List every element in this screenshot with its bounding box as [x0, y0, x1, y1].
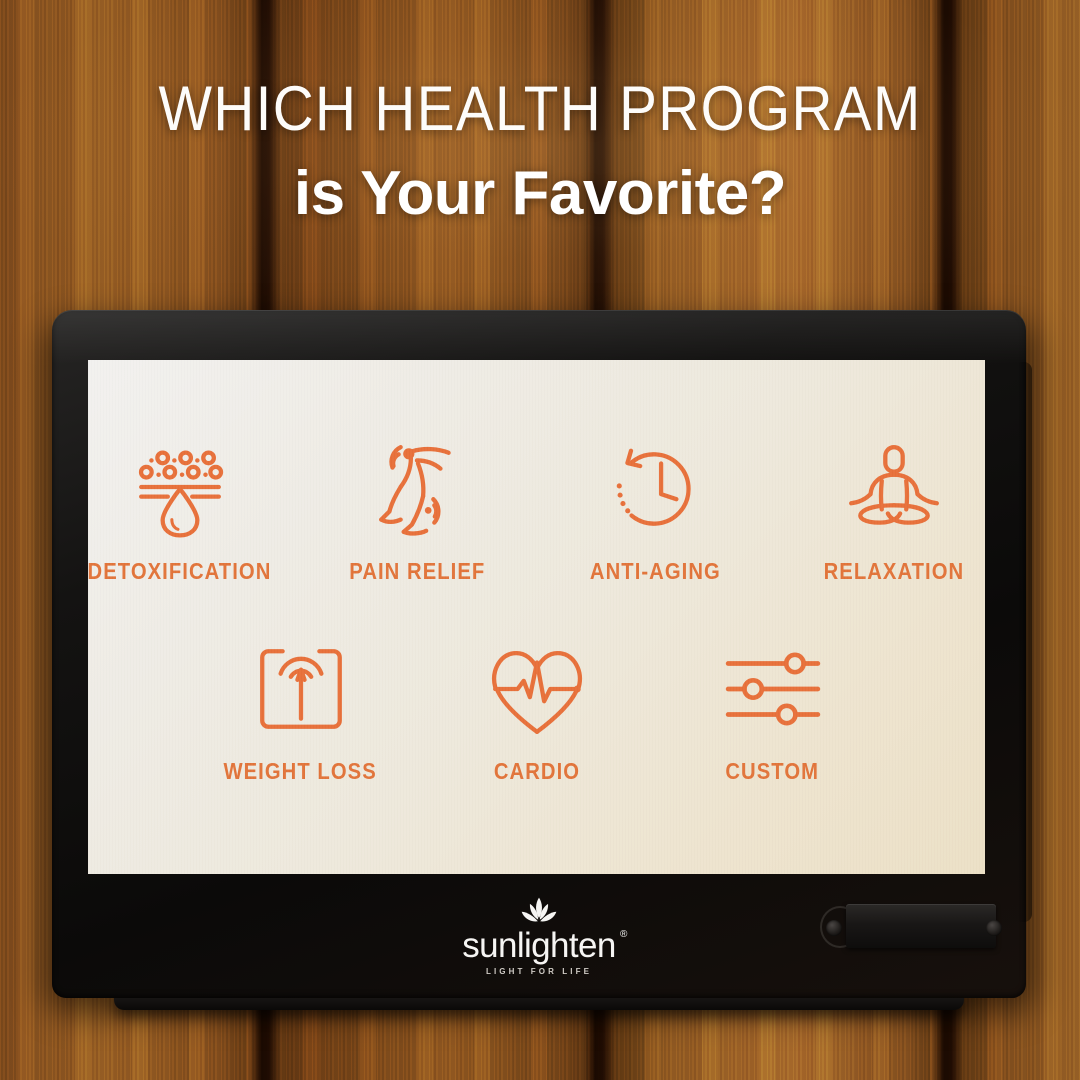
- wall-mount-bracket: [818, 898, 1008, 960]
- bezel-sheen: [52, 310, 1026, 364]
- logo-wordmark: sunlighten ®: [462, 928, 616, 963]
- lotus-flower-icon: [520, 896, 558, 926]
- logo-tagline: LIGHT FOR LIFE: [486, 967, 592, 976]
- logo-wordmark-text: sunlighten: [462, 926, 616, 965]
- clock-rewind-icon: [605, 438, 707, 540]
- mount-screw-right: [986, 920, 1002, 936]
- program-cardio[interactable]: CARDIO: [449, 638, 625, 785]
- registered-trademark-symbol: ®: [620, 930, 627, 940]
- program-label: RELAXATION: [823, 558, 964, 585]
- tablet-screen[interactable]: DETOXIFICATION: [88, 360, 985, 874]
- mount-plate: [846, 904, 996, 948]
- mount-screw-left: [826, 920, 842, 936]
- headline-line-2: is Your Favorite?: [0, 163, 1080, 225]
- heart-pulse-icon: [486, 638, 588, 740]
- wall-mounted-tablet: DETOXIFICATION: [52, 310, 1026, 998]
- program-anti-aging[interactable]: ANTI-AGING: [568, 438, 744, 585]
- meditation-lotus-pose-icon: [843, 438, 945, 540]
- program-label: PAIN RELIEF: [349, 558, 485, 585]
- program-relaxation[interactable]: RELAXATION: [806, 438, 982, 585]
- sliders-icon: [722, 638, 824, 740]
- program-row-2: WEIGHT LOSS: [88, 638, 985, 785]
- program-label: CARDIO: [493, 758, 579, 785]
- page-title: WHICH HEALTH PROGRAM is Your Favorite?: [0, 78, 1080, 225]
- detox-droplet-icon: [129, 438, 231, 540]
- program-label: DETOXIFICATION: [88, 558, 271, 585]
- pain-relief-person-icon: [367, 438, 469, 540]
- program-row-1: DETOXIFICATION: [88, 438, 985, 585]
- tablet-bezel: DETOXIFICATION: [52, 310, 1026, 998]
- program-label: CUSTOM: [726, 758, 820, 785]
- program-detoxification[interactable]: DETOXIFICATION: [92, 438, 268, 585]
- program-pain-relief[interactable]: PAIN RELIEF: [330, 438, 506, 585]
- bathroom-scale-icon: [250, 638, 352, 740]
- program-label: ANTI-AGING: [590, 558, 721, 585]
- program-custom[interactable]: CUSTOM: [685, 638, 861, 785]
- headline-line-1: WHICH HEALTH PROGRAM: [54, 78, 1026, 141]
- program-label: WEIGHT LOSS: [224, 758, 377, 785]
- program-weight-loss[interactable]: WEIGHT LOSS: [213, 638, 389, 785]
- tablet-side-edge: [1018, 362, 1032, 922]
